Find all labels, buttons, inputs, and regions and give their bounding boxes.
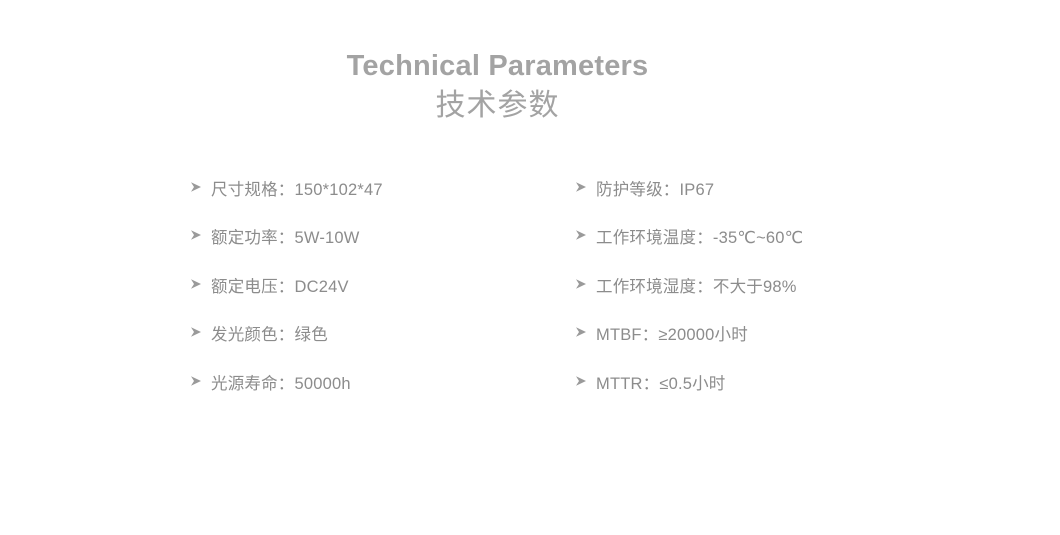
- page-title-block: Technical Parameters 技术参数: [0, 48, 995, 126]
- spec-item-operating-temperature: 工作环境温度：-35℃~60℃: [574, 229, 974, 277]
- arrow-right-triangle-icon: [189, 325, 211, 339]
- spec-item-protection-rating: 防护等级：IP67: [574, 181, 974, 229]
- spec-item-label: MTTR：≤0.5小时: [596, 376, 726, 393]
- spec-item-dimensions: 尺寸规格：150*102*47: [189, 181, 559, 229]
- spec-column-right: 防护等级：IP67 工作环境温度：-35℃~60℃ 工作环境湿度：不大于98%: [574, 181, 974, 423]
- spec-item-label: 额定功率：5W-10W: [211, 230, 360, 247]
- spec-item-label: 发光颜色：绿色: [211, 327, 328, 344]
- page-title-english: Technical Parameters: [0, 48, 995, 84]
- arrow-right-triangle-icon: [574, 228, 596, 242]
- arrow-right-triangle-icon: [189, 228, 211, 242]
- arrow-right-triangle-icon: [574, 180, 596, 194]
- spec-item-operating-humidity: 工作环境湿度：不大于98%: [574, 278, 974, 326]
- arrow-right-triangle-icon: [574, 374, 596, 388]
- technical-parameters-page: Technical Parameters 技术参数 尺寸规格：150*102*4…: [0, 0, 1060, 535]
- spec-item-label: 光源寿命：50000h: [211, 376, 351, 393]
- spec-item-light-source-lifespan: 光源寿命：50000h: [189, 375, 559, 423]
- spec-item-rated-power: 额定功率：5W-10W: [189, 229, 559, 277]
- spec-item-mttr: MTTR：≤0.5小时: [574, 375, 974, 423]
- arrow-right-triangle-icon: [574, 277, 596, 291]
- arrow-right-triangle-icon: [189, 180, 211, 194]
- spec-item-rated-voltage: 额定电压：DC24V: [189, 278, 559, 326]
- spec-item-light-color: 发光颜色：绿色: [189, 326, 559, 374]
- spec-item-label: MTBF：≥20000小时: [596, 327, 748, 344]
- page-title-chinese: 技术参数: [0, 86, 995, 126]
- spec-item-label: 尺寸规格：150*102*47: [211, 182, 383, 199]
- arrow-right-triangle-icon: [574, 325, 596, 339]
- arrow-right-triangle-icon: [189, 277, 211, 291]
- spec-item-mtbf: MTBF：≥20000小时: [574, 326, 974, 374]
- spec-item-label: 工作环境温度：-35℃~60℃: [596, 230, 803, 247]
- arrow-right-triangle-icon: [189, 374, 211, 388]
- spec-item-label: 工作环境湿度：不大于98%: [596, 279, 797, 296]
- spec-item-label: 防护等级：IP67: [596, 182, 714, 199]
- spec-column-left: 尺寸规格：150*102*47 额定功率：5W-10W 额定电压：DC24V: [189, 181, 559, 423]
- spec-item-label: 额定电压：DC24V: [211, 279, 349, 296]
